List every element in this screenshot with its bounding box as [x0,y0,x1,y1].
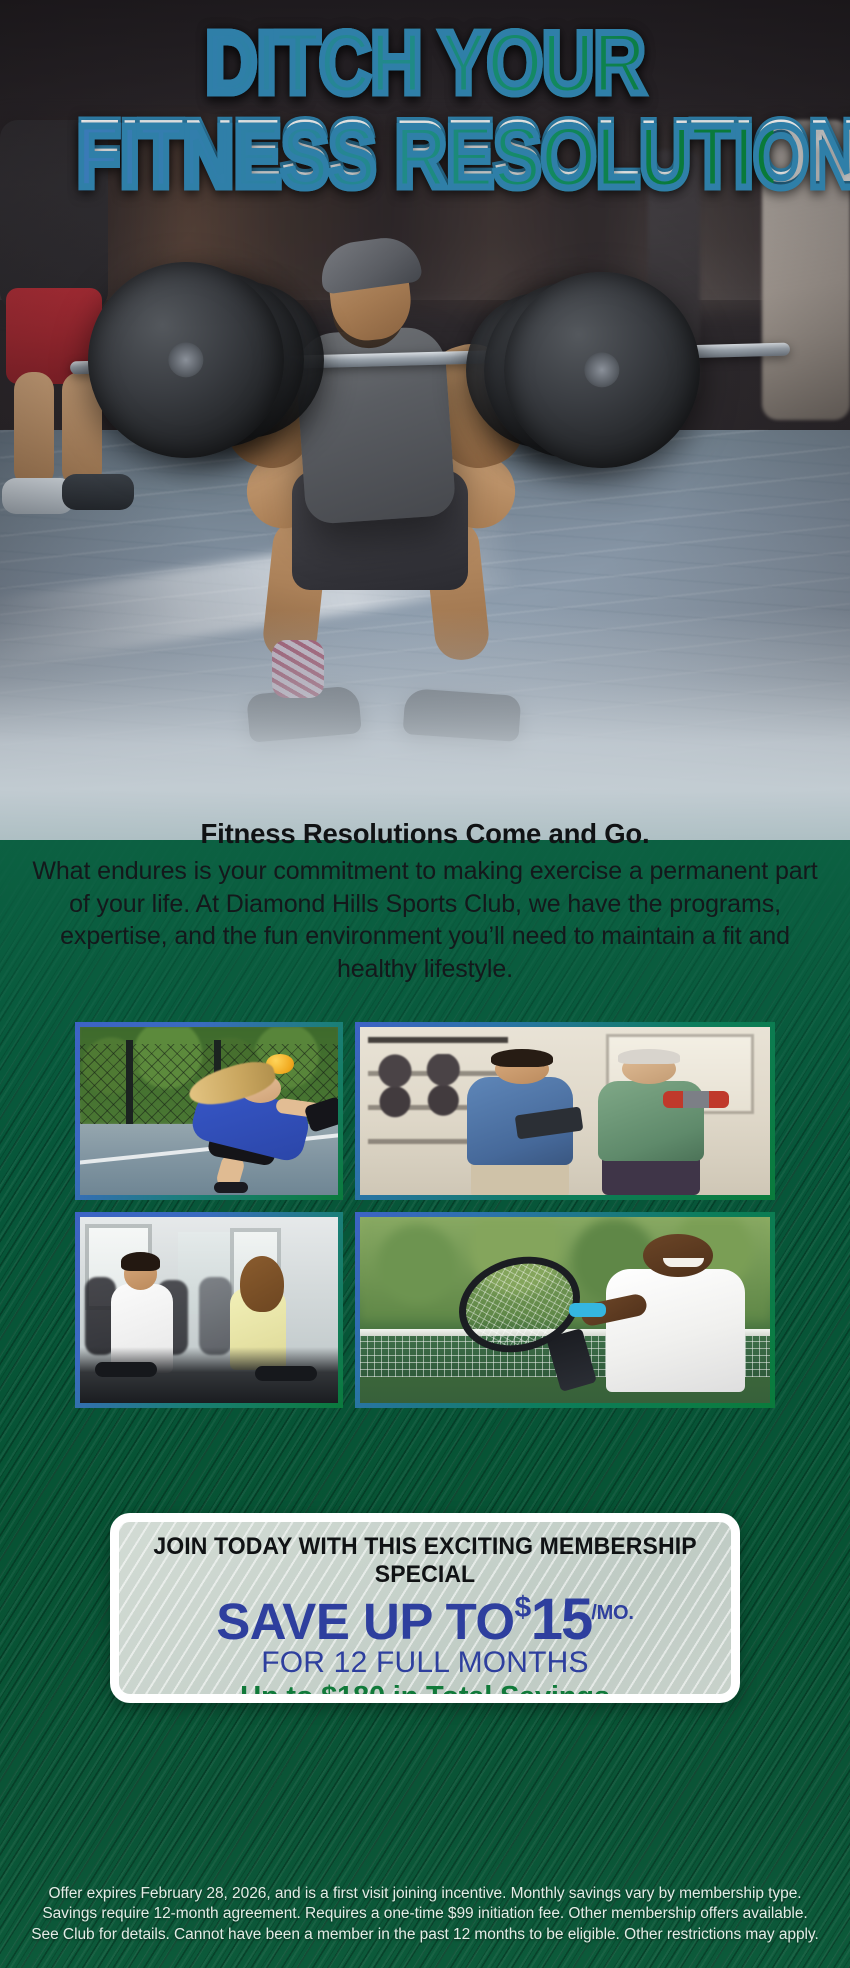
photo-spin-class [75,1212,343,1408]
offer-total-savings: Up to $180 in Total Savings [119,1681,731,1703]
tennis-player-body [606,1269,745,1392]
offer-per-month: /MO. [591,1602,634,1624]
photo-personal-training [355,1022,775,1200]
offer-kicker: JOIN TODAY WITH THIS EXCITING MEMBERSHIP… [137,1533,712,1589]
offer-box-content: JOIN TODAY WITH THIS EXCITING MEMBERSHIP… [119,1522,731,1703]
member-dumbbell [663,1091,729,1108]
headline-line-2-stroke: FITNESS RESOLUTION [77,110,774,192]
tennis-player-head [643,1234,713,1277]
photo-grid [75,1022,775,1408]
offer-headline: SAVE UP TO$15/MO. [119,1590,731,1649]
offer-currency-symbol: $ [515,1591,531,1624]
tennis-player-smile [663,1258,704,1267]
hero-bottom-fade [0,610,850,840]
spin-handlebar-left [95,1362,157,1377]
photo-pickleball [75,1022,343,1200]
copy-heading: Fitness Resolutions Come and Go. [30,818,820,850]
offer-term: FOR 12 FULL MONTHS [119,1647,731,1679]
headline: DITCH YOUR DITCH YOUR FITNESS RESOLUTION… [0,22,850,192]
flyer-canvas: DITCH YOUR DITCH YOUR FITNESS RESOLUTION… [0,0,850,1968]
offer-amount: 15 [531,1587,592,1652]
member-hair [618,1049,680,1064]
pickleball-player-shoe [214,1182,248,1194]
photo-tennis [355,1212,775,1408]
offer-save-label: SAVE UP TO [216,1593,514,1650]
spin-rider-right-hair [240,1256,284,1312]
photo-pickleball-inner [80,1027,338,1195]
tennis-player-wristband [569,1303,606,1318]
headline-line-1-stroke: DITCH YOUR [77,22,774,104]
headline-line-2-wrap: FITNESS RESOLUTION FITNESS RESOLUTION [0,110,850,192]
trainer-hair [491,1049,553,1067]
disclaimer-text: Offer expires February 28, 2026, and is … [0,1884,850,1946]
photo-personal-training-inner [360,1027,770,1195]
spin-rider-bg-3 [199,1277,233,1355]
membership-offer-box[interactable]: JOIN TODAY WITH THIS EXCITING MEMBERSHIP… [110,1513,740,1703]
spin-handlebar-right [255,1366,317,1381]
intro-copy: Fitness Resolutions Come and Go. What en… [0,818,850,985]
spin-rider-front-hair [121,1252,160,1271]
photo-spin-class-inner [80,1217,338,1403]
copy-body: What endures is your commitment to makin… [30,855,820,985]
photo-tennis-inner [360,1217,770,1403]
headline-line-1-wrap: DITCH YOUR DITCH YOUR [0,22,850,104]
